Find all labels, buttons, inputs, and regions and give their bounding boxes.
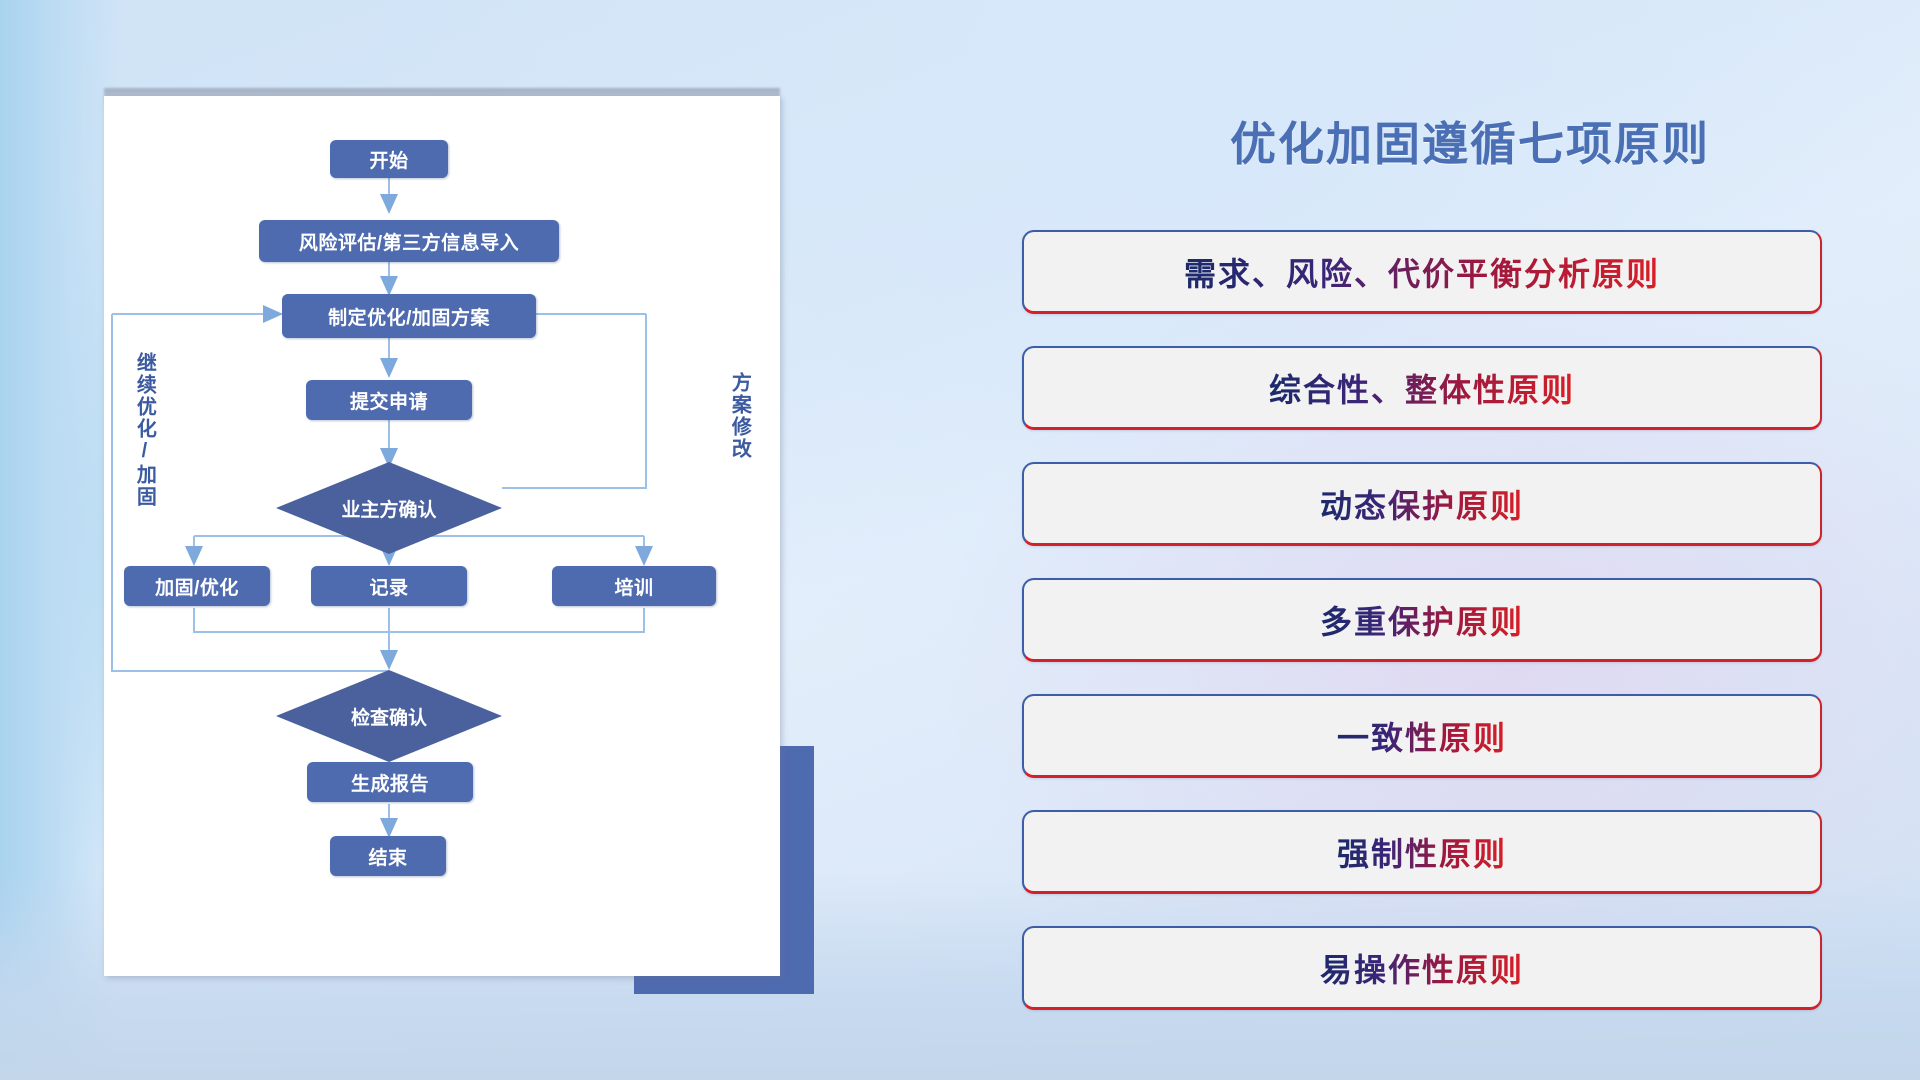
- flowchart-card: 开始 风险评估/第三方信息导入 制定优化/加固方案 提交申请 业主方确认 加固/…: [104, 96, 780, 976]
- flow-node-label: 风险评估/第三方信息导入: [299, 228, 519, 255]
- flow-node-training[interactable]: 培训: [552, 566, 716, 606]
- flow-node-plan[interactable]: 制定优化/加固方案: [282, 294, 536, 338]
- flow-node-submit-application[interactable]: 提交申请: [306, 380, 472, 420]
- principle-label: 易操作性原则: [1320, 945, 1524, 991]
- principle-label: 多重保护原则: [1320, 597, 1524, 643]
- flow-node-risk-assessment[interactable]: 风险评估/第三方信息导入: [259, 220, 559, 262]
- flow-node-label: 结束: [368, 843, 407, 870]
- flow-node-label: 培训: [614, 573, 653, 600]
- principles-list: 需求、风险、代价平衡分析原则 综合性、整体性原则 动态保护原则 多重保护原则 一…: [1022, 230, 1822, 1042]
- flow-node-label: 加固/优化: [155, 573, 239, 600]
- principle-label: 一致性原则: [1337, 713, 1507, 759]
- principle-label: 强制性原则: [1337, 829, 1507, 875]
- principle-card-2[interactable]: 综合性、整体性原则: [1022, 346, 1822, 430]
- flow-node-label: 检查确认: [351, 703, 427, 730]
- principle-label: 需求、风险、代价平衡分析原则: [1184, 249, 1660, 295]
- principle-label: 综合性、整体性原则: [1269, 365, 1575, 411]
- flow-edge-label-plan-revision: 方案修改: [729, 372, 749, 490]
- principle-card-6[interactable]: 强制性原则: [1022, 810, 1822, 894]
- principle-card-3[interactable]: 动态保护原则: [1022, 462, 1822, 546]
- flow-node-label: 生成报告: [351, 769, 429, 796]
- principle-card-1[interactable]: 需求、风险、代价平衡分析原则: [1022, 230, 1822, 314]
- principles-panel: 优化加固遵循七项原则 需求、风险、代价平衡分析原则 综合性、整体性原则 动态保护…: [1020, 0, 1920, 1080]
- flow-node-label: 提交申请: [350, 387, 428, 414]
- flow-node-label: 记录: [369, 573, 408, 600]
- flow-node-generate-report[interactable]: 生成报告: [307, 762, 473, 802]
- flow-node-start[interactable]: 开始: [330, 140, 448, 178]
- flow-node-record[interactable]: 记录: [311, 566, 467, 606]
- principle-card-4[interactable]: 多重保护原则: [1022, 578, 1822, 662]
- flow-node-label: 业主方确认: [341, 495, 436, 522]
- principle-card-5[interactable]: 一致性原则: [1022, 694, 1822, 778]
- flow-node-label: 开始: [369, 146, 408, 173]
- flow-node-label: 制定优化/加固方案: [328, 303, 490, 330]
- principle-label: 动态保护原则: [1320, 481, 1524, 527]
- flow-edge-label-continue-optimize: 继续优化/加固: [134, 352, 154, 512]
- page-title: 优化加固遵循七项原则: [1150, 108, 1790, 174]
- flow-node-end[interactable]: 结束: [330, 836, 446, 876]
- flow-node-reinforce[interactable]: 加固/优化: [124, 566, 270, 606]
- principle-card-7[interactable]: 易操作性原则: [1022, 926, 1822, 1010]
